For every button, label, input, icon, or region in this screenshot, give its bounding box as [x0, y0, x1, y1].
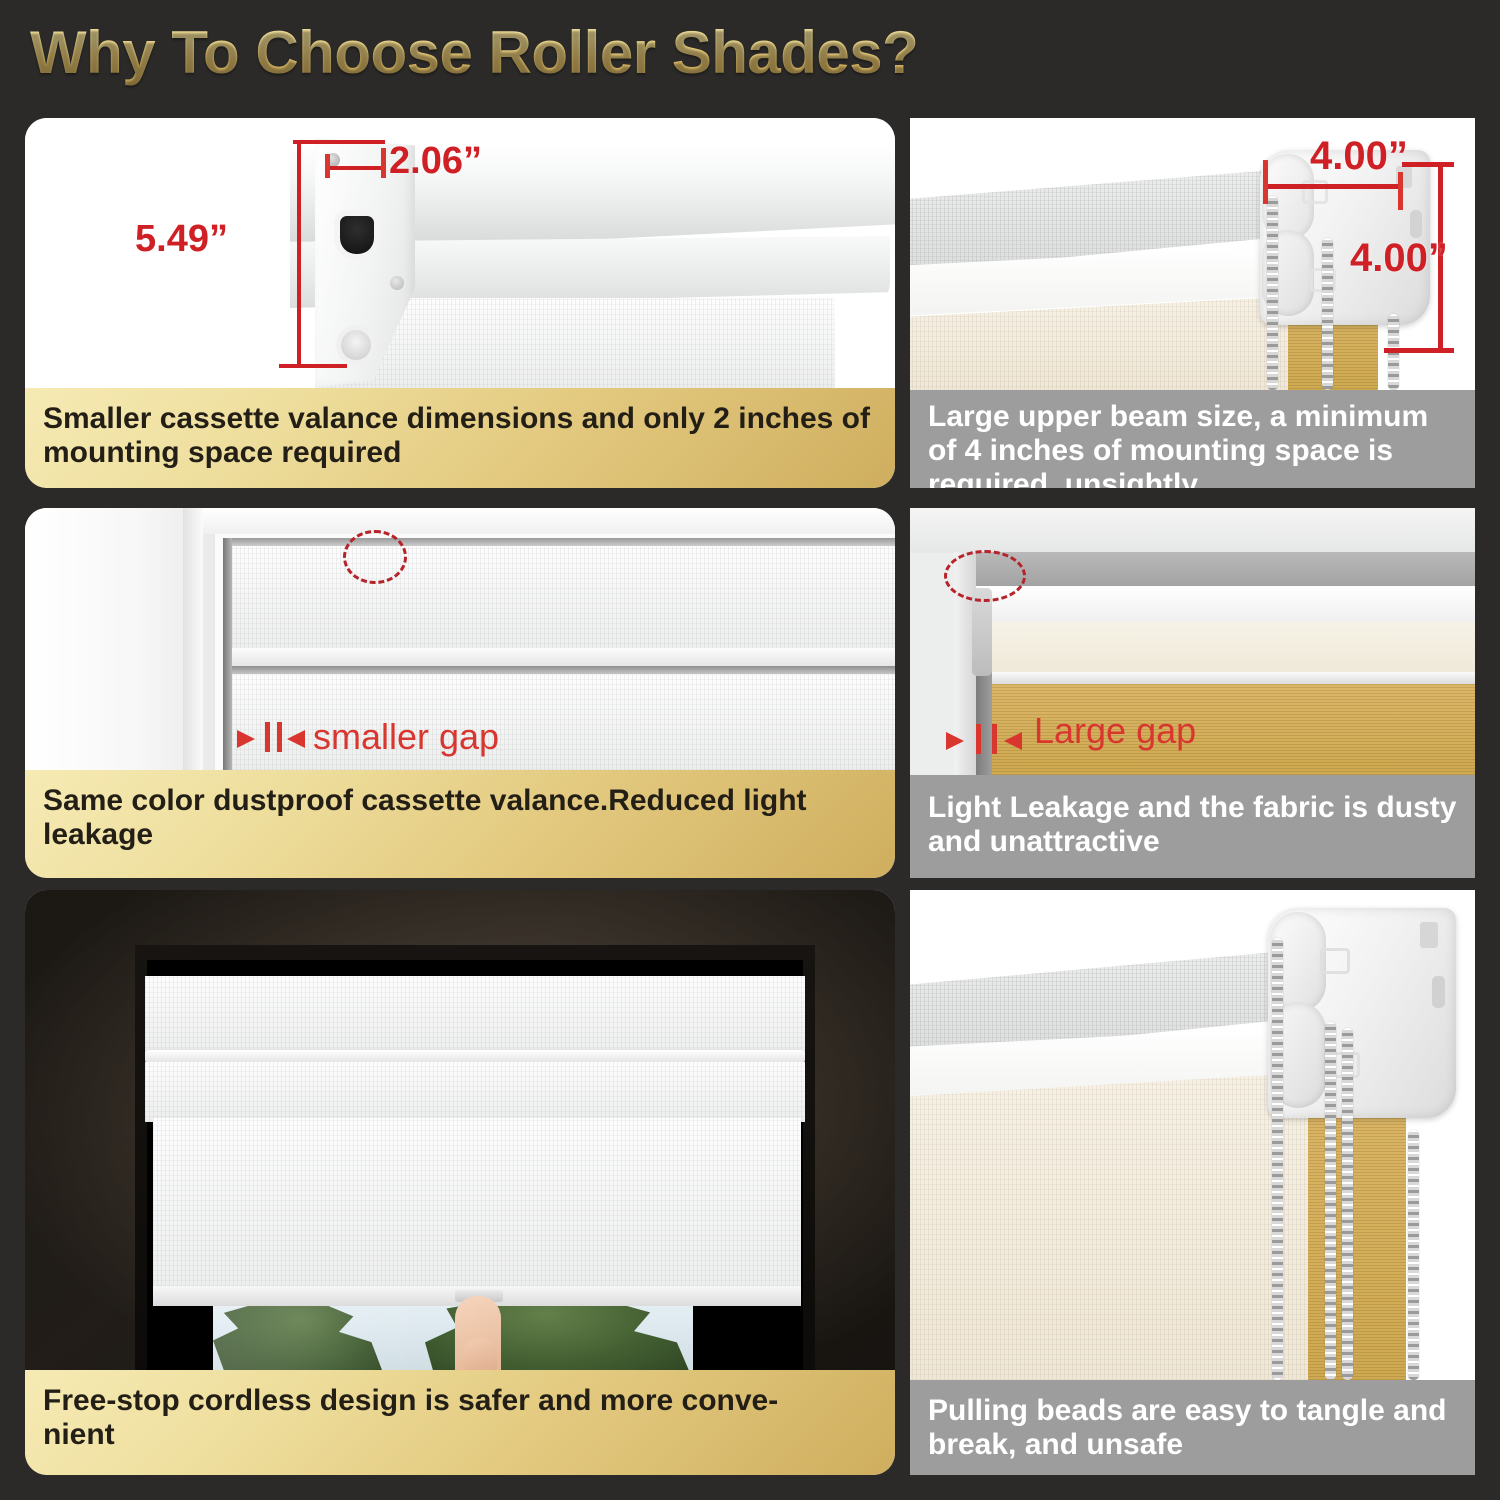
- beam-height-cap-bottom: [1384, 348, 1454, 353]
- beam-width-tick-left: [1263, 160, 1268, 204]
- beads-cream-fabric: [910, 1072, 1320, 1380]
- pulling-bead-chain-4: [1408, 1130, 1419, 1380]
- pulling-bead-chain-1: [1272, 938, 1283, 1380]
- width-dimension-line: [327, 166, 385, 170]
- bead-chain-right: [1322, 238, 1333, 390]
- large-gap-arrow-right: [1004, 732, 1022, 750]
- gap-tick-a: [265, 722, 270, 752]
- valance-screw-mid: [390, 276, 404, 290]
- valance-front-face: [228, 546, 895, 654]
- width-dimension-label: 2.06”: [389, 140, 482, 183]
- highlight-circle-large-gap: [944, 550, 1026, 602]
- panel-dustproof-cassette-valance: smaller gap Same color dustproof cassett…: [25, 508, 895, 878]
- cordless-shade-photo: [25, 890, 895, 1380]
- height-dimension-line: [297, 140, 301, 368]
- bead-chain-left: [1267, 196, 1278, 390]
- large-beam-photo: 4.00” 4.00”: [910, 118, 1475, 390]
- large-gap-tick-b: [992, 724, 997, 754]
- caption-large-upper-beam: Large upper beam size, a minimum of 4 in…: [910, 390, 1475, 488]
- caption-cassette-valance-dimensions: Smaller cassette valance dimensions and …: [25, 388, 895, 488]
- cordless-valance-roll: [145, 1062, 805, 1122]
- pulling-bead-chain-2: [1325, 1022, 1336, 1380]
- caption-light-leakage: Light Leakage and the fabric is dusty an…: [910, 775, 1475, 878]
- light-leakage-photo: Large gap: [910, 508, 1475, 775]
- caption-free-stop-cordless: Free-stop cordless design is safer and m…: [25, 1370, 895, 1475]
- bracket-slot-2: [1410, 210, 1422, 238]
- gap-arrow-left: [237, 730, 255, 748]
- height-dimension-cap-top: [293, 140, 385, 144]
- large-gap-arrow-left: [946, 732, 964, 750]
- gap-label-large: Large gap: [1034, 710, 1196, 752]
- panel-large-upper-beam: 4.00” 4.00” Large upper beam size, a min…: [910, 118, 1475, 488]
- beam-height-cap-top: [1402, 162, 1454, 167]
- gap-arrow-right: [287, 730, 305, 748]
- roller-shadow: [228, 666, 895, 674]
- shade-left-gap: [223, 538, 232, 770]
- beads-bracket-emboss-1: [1320, 948, 1350, 974]
- pulling-bead-chain-3: [1342, 1028, 1353, 1380]
- width-dimension-tick-left: [325, 154, 330, 178]
- infographic-root: Why To Choose Roller Shades? 2.06” 5.49”: [0, 0, 1500, 1500]
- valance-screw-lower: [341, 330, 371, 360]
- valance-slot: [340, 216, 374, 254]
- beam-width-dimension-line: [1265, 184, 1403, 189]
- panel-cassette-valance-dimensions: 2.06” 5.49” Smaller cassette valance dim…: [25, 118, 895, 488]
- valance-lip: [228, 648, 895, 668]
- page-title: Why To Choose Roller Shades?: [30, 18, 918, 87]
- beam-height-dimension-label: 4.00”: [1350, 236, 1448, 281]
- panel-pulling-beads: Pulling beads are easy to tangle and bre…: [910, 890, 1475, 1475]
- pulling-beads-photo: [910, 890, 1475, 1380]
- beads-bracket-slot-2: [1432, 976, 1445, 1008]
- large-gap-tick-a: [976, 724, 981, 754]
- caption-dustproof-cassette-valance: Same color dustproof cassette valance.Re…: [25, 770, 895, 878]
- beads-bracket-slot-1: [1420, 922, 1438, 948]
- panel-free-stop-cordless: Free-stop cordless design is safer and m…: [25, 890, 895, 1475]
- window-frame-top: [203, 508, 895, 534]
- gap-tick-b: [277, 722, 282, 752]
- cassette-valance-photo: 2.06” 5.49”: [25, 118, 895, 388]
- caption-pulling-beads: Pulling beads are easy to tangle and bre…: [910, 1380, 1475, 1475]
- gap-label-smaller: smaller gap: [313, 716, 499, 758]
- wall-above: [910, 508, 1475, 553]
- cordless-shade-fabric: [153, 1118, 801, 1296]
- highlight-circle-smaller-gap: [343, 530, 407, 584]
- width-dimension-tick-right: [381, 148, 386, 178]
- cordless-valance-shell: [145, 976, 805, 1058]
- dustproof-valance-photo: smaller gap: [25, 508, 895, 770]
- panel-light-leakage: Large gap Light Leakage and the fabric i…: [910, 508, 1475, 878]
- height-dimension-label: 5.49”: [135, 218, 228, 261]
- window-frame-groove: [183, 508, 203, 770]
- beam-lower-lip: [958, 672, 1475, 684]
- valance-top-edge: [228, 538, 895, 546]
- beam-cream-band: [958, 622, 1475, 674]
- beam-width-dimension-label: 4.00”: [1310, 134, 1408, 179]
- height-dimension-cap-bottom: [279, 364, 347, 368]
